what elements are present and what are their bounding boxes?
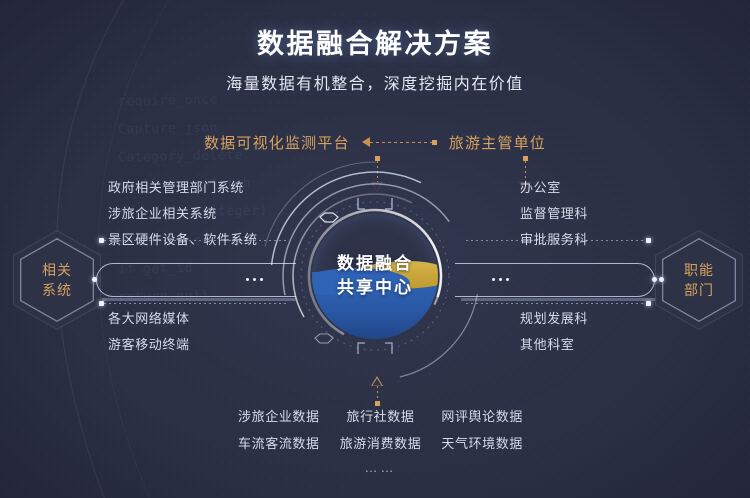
list-item: 游客移动终端 xyxy=(108,332,190,358)
left-bottom-list: 各大网络媒体 游客移动终端 xyxy=(108,306,190,358)
right-bottom-list: 规划发展科 其他科室 xyxy=(520,306,588,358)
tourism-authority-label: 旅游主管单位 xyxy=(449,132,546,153)
visualization-platform-label: 数据可视化监测平台 xyxy=(204,132,350,153)
right-top-list: 办公室 监督管理科 审批服务科 xyxy=(520,175,588,253)
hexagon-right-inlet xyxy=(659,277,664,282)
grid-cell: 旅游消费数据 xyxy=(330,430,432,457)
flow-dot xyxy=(506,278,509,281)
bottom-grid-row: 涉旅企业数据 旅行社数据 网评舆论数据 xyxy=(228,403,533,430)
hexagon-related-systems[interactable]: 相关 系统 xyxy=(20,238,94,322)
core-label-line1: 数据融合 xyxy=(337,252,413,276)
list-item: 政府相关管理部门系统 xyxy=(108,175,258,201)
bottom-grid-row: 车流客流数据 旅游消费数据 天气环境数据 xyxy=(228,430,533,457)
list-item: 各大网络媒体 xyxy=(108,306,190,332)
flow-dot xyxy=(246,278,249,281)
core-label-line2: 共享中心 xyxy=(337,276,413,300)
grid-cell: 旅行社数据 xyxy=(330,403,432,430)
dashed-connector xyxy=(370,142,432,143)
grid-more-indicator: …… xyxy=(365,457,397,479)
list-item: 办公室 xyxy=(520,175,588,201)
flow-dot xyxy=(499,278,502,281)
list-item: 其他科室 xyxy=(520,332,588,358)
grid-cell: 车流客流数据 xyxy=(228,430,330,457)
grid-cell: 天气环境数据 xyxy=(431,430,533,457)
bottom-data-grid: 涉旅企业数据 旅行社数据 网评舆论数据 车流客流数据 旅游消费数据 天气环境数据… xyxy=(228,403,533,479)
hexagon-label-line2: 系统 xyxy=(42,280,72,300)
hexagon-label: 职能 部门 xyxy=(662,238,736,322)
list-item: 审批服务科 xyxy=(520,227,588,253)
hexagon-label: 相关 系统 xyxy=(20,238,94,322)
top-flow-row: 数据可视化监测平台 旅游主管单位 xyxy=(0,130,750,154)
hexagon-label-line1: 相关 xyxy=(42,260,72,280)
infographic-canvas: require_once Capture_json Category_delet… xyxy=(0,0,750,498)
top-flow-arrow xyxy=(362,137,437,147)
arrow-left-icon xyxy=(362,137,370,147)
page-subtitle: 海量数据有机整合，深度挖掘内在价值 xyxy=(0,70,750,94)
hexagon-label-line1: 职能 xyxy=(684,260,714,280)
list-item: 景区硬件设备、软件系统 xyxy=(108,227,258,253)
bar-right-endpoint xyxy=(652,277,657,282)
center-core-label: 数据融合 共享中心 xyxy=(312,213,438,339)
list-item: 涉旅企业相关系统 xyxy=(108,201,258,227)
endpoint-node xyxy=(99,301,104,306)
list-item: 监督管理科 xyxy=(520,201,588,227)
bar-left-endpoint xyxy=(92,277,97,282)
hexagon-label-line2: 部门 xyxy=(684,280,714,300)
endpoint-node xyxy=(646,301,651,306)
grid-cell: 网评舆论数据 xyxy=(431,403,533,430)
page-title: 数据融合解决方案 xyxy=(0,22,750,61)
connector-node-square xyxy=(432,140,437,145)
endpoint-node xyxy=(99,238,104,243)
hexagon-functional-departments[interactable]: 职能 部门 xyxy=(662,238,736,322)
left-top-list: 政府相关管理部门系统 涉旅企业相关系统 景区硬件设备、软件系统 xyxy=(108,175,258,253)
grid-cell: 涉旅企业数据 xyxy=(228,403,330,430)
endpoint-node xyxy=(646,238,651,243)
center-ring: 数据融合 共享中心 xyxy=(255,156,495,396)
list-item: 规划发展科 xyxy=(520,306,588,332)
